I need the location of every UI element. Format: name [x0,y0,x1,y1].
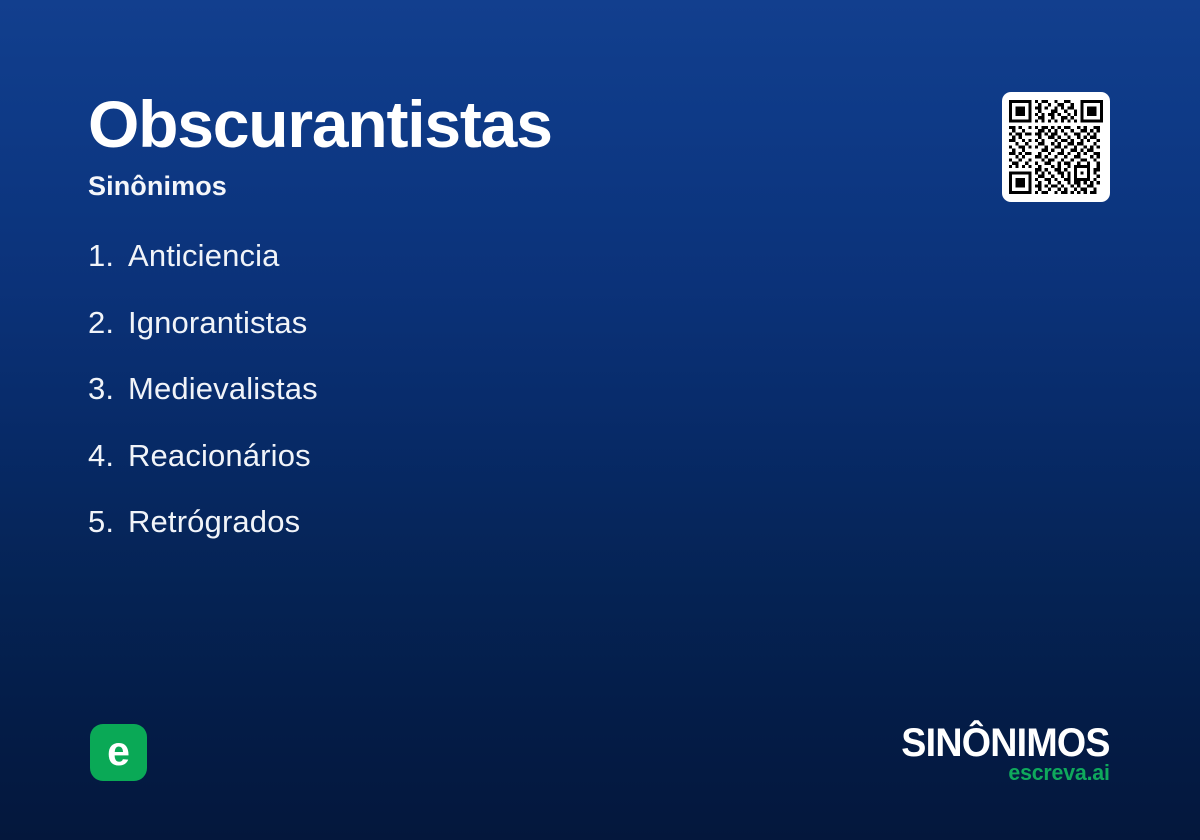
list-item-index: 4. [88,436,128,476]
page-subtitle: Sinônimos [88,170,968,202]
qr-code-icon [1009,99,1103,195]
list-item-label: Medievalistas [128,369,318,409]
list-item-index: 3. [88,369,128,409]
page-title: Obscurantistas [88,88,968,160]
list-item: 5. Retrógrados [88,502,788,569]
list-item: 3. Medievalistas [88,369,788,436]
synonym-card: Obscurantistas Sinônimos [0,0,1200,840]
list-item: 4. Reacionários [88,436,788,503]
sinonimos-wordmark: SINÔNIMOS escreva.ai [888,722,1110,785]
list-item: 2. Ignorantistas [88,303,788,370]
qr-code[interactable] [1002,92,1110,202]
list-item-index: 1. [88,236,128,276]
list-item: 1. Anticiencia [88,236,788,303]
header: Obscurantistas Sinônimos [88,88,968,202]
list-item-index: 2. [88,303,128,343]
list-item-index: 5. [88,502,128,542]
brand-mark-letter: e [107,731,130,772]
list-item-label: Retrógrados [128,502,300,542]
synonym-list: 1. Anticiencia 2. Ignorantistas 3. Medie… [88,236,788,569]
escreva-logo-icon: e [90,724,147,781]
list-item-label: Reacionários [128,436,311,476]
list-item-label: Anticiencia [128,236,280,276]
wordmark-title: SINÔNIMOS [902,722,1110,764]
wordmark-subtitle: escreva.ai [895,761,1110,785]
list-item-label: Ignorantistas [128,303,307,343]
